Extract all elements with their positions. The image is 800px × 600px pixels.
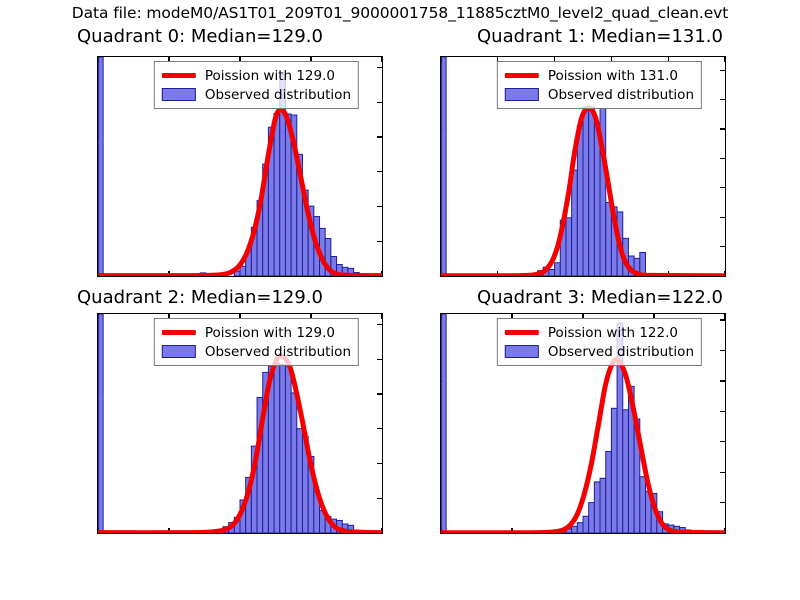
observed-patch-icon [505, 345, 539, 358]
legend-item-poisson[interactable]: Poission with 129.0 [161, 66, 351, 85]
histogram-bar [297, 429, 303, 533]
legend-line-swatch [504, 73, 540, 78]
histogram-bar [99, 314, 104, 533]
legend[interactable]: Poission with 129.0Observed distribution [154, 61, 359, 109]
poisson-line-icon [505, 73, 539, 78]
legend-label-poisson: Poission with 129.0 [197, 68, 335, 84]
legend-item-observed[interactable]: Observed distribution [504, 85, 694, 104]
histogram-bar [274, 363, 280, 533]
figure-suptitle: Data file: modeM0/AS1T01_209T01_90000017… [0, 4, 800, 22]
legend-label-observed: Observed distribution [197, 87, 351, 103]
legend-label-poisson: Poission with 122.0 [540, 325, 678, 341]
legend-label-poisson: Poission with 131.0 [540, 68, 678, 84]
subplot-title: Quadrant 3: Median=122.0 [400, 289, 800, 307]
subplot-quadrant-0: Quadrant 0: Median=129.0 010020030040050… [0, 26, 400, 306]
plot-area-quadrant-0: 0100200300400500600050100150200Poission … [97, 56, 383, 277]
histogram-bar [577, 126, 583, 276]
legend-item-poisson[interactable]: Poission with 122.0 [504, 323, 694, 342]
poisson-line-icon [505, 330, 539, 335]
legend-patch-swatch [161, 88, 197, 101]
histogram-bar [611, 408, 617, 533]
legend-patch-swatch [504, 88, 540, 101]
histogram-bar [589, 503, 595, 533]
legend-item-observed[interactable]: Observed distribution [504, 342, 694, 361]
plot-area-quadrant-3: 0100200300400500600700050100150200Poissi… [440, 313, 726, 534]
poisson-curve [98, 110, 382, 276]
histogram-bar [291, 393, 297, 533]
histogram-bar [623, 410, 629, 533]
histogram-bar [594, 482, 600, 533]
histogram-bar [589, 107, 595, 276]
subplot-quadrant-3: Quadrant 3: Median=122.0 010020030040050… [400, 287, 800, 577]
legend-item-observed[interactable]: Observed distribution [161, 342, 351, 361]
histogram-bar [555, 263, 561, 276]
subplot-quadrant-1: Quadrant 1: Median=131.0 010020030040050… [400, 26, 800, 306]
legend-patch-swatch [504, 345, 540, 358]
subplot-title: Quadrant 0: Median=129.0 [0, 28, 400, 46]
poisson-curve [441, 360, 725, 533]
histogram-bar [606, 203, 612, 276]
plot-area-quadrant-1: 0100200300400500600700050100150200250Poi… [440, 56, 726, 277]
histogram-bar [566, 218, 572, 276]
plot-area-quadrant-2: 0100200300400500600050100150200Poission … [97, 313, 383, 534]
poisson-line-icon [162, 73, 196, 78]
subplot-title: Quadrant 1: Median=131.0 [400, 28, 800, 46]
histogram-bar [442, 314, 447, 533]
histogram-bar [600, 478, 606, 533]
histogram-bar [572, 526, 578, 533]
histogram-bar [99, 57, 104, 276]
figure-canvas: Data file: modeM0/AS1T01_209T01_90000017… [0, 0, 800, 600]
histogram-bar [583, 516, 589, 533]
observed-patch-icon [162, 88, 196, 101]
histogram-bar [285, 366, 291, 533]
subplot-quadrant-2: Quadrant 2: Median=129.0 010020030040050… [0, 287, 400, 577]
legend-item-poisson[interactable]: Poission with 131.0 [504, 66, 694, 85]
legend-label-observed: Observed distribution [540, 344, 694, 360]
legend-item-poisson[interactable]: Poission with 129.0 [161, 323, 351, 342]
histogram-bar [442, 57, 447, 276]
histogram-bar [274, 113, 280, 276]
legend-label-observed: Observed distribution [540, 87, 694, 103]
legend[interactable]: Poission with 129.0Observed distribution [154, 318, 359, 366]
legend-line-swatch [161, 73, 197, 78]
histogram-bar [594, 124, 600, 276]
legend-line-swatch [504, 330, 540, 335]
legend[interactable]: Poission with 122.0Observed distribution [497, 318, 702, 366]
legend[interactable]: Poission with 131.0Observed distribution [497, 61, 702, 109]
legend-label-poisson: Poission with 129.0 [197, 325, 335, 341]
observed-patch-icon [162, 345, 196, 358]
histogram-bar [549, 270, 555, 276]
histogram-bar [606, 451, 612, 533]
histogram-bar [640, 477, 646, 533]
legend-patch-swatch [161, 345, 197, 358]
legend-item-observed[interactable]: Observed distribution [161, 85, 351, 104]
observed-patch-icon [505, 88, 539, 101]
legend-line-swatch [161, 330, 197, 335]
histogram-bar [572, 170, 578, 276]
legend-label-observed: Observed distribution [197, 344, 351, 360]
histogram-bar [583, 107, 589, 276]
subplot-title: Quadrant 2: Median=129.0 [0, 289, 400, 307]
poisson-line-icon [162, 330, 196, 335]
histogram-bar [577, 523, 583, 533]
histogram-bar [280, 364, 286, 533]
